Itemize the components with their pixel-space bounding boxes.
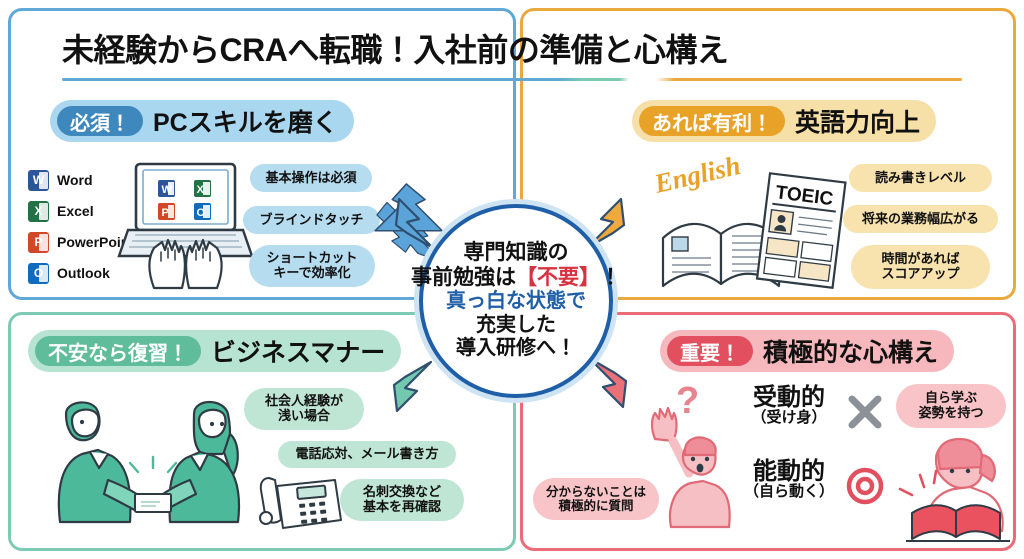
pill-pc-shortcuts: ショートカット キーで効率化 — [249, 245, 375, 287]
section-title-mindset: 積極的な心構え — [763, 333, 938, 369]
section-header-business-manner: 不安なら復習！ ビジネスマナー — [28, 330, 401, 372]
pill-manner-card-exchange: 名刺交換など 基本を再確認 — [340, 479, 464, 521]
svg-text:X: X — [197, 184, 205, 196]
pill-pc-touch-typing: ブラインドタッチ — [243, 206, 380, 234]
section-chip-business-manner: 不安なら復習！ — [35, 336, 201, 366]
page-title: 未経験からCRAへ転職！入社前の準備と心構え — [62, 28, 782, 72]
section-title-english: 英語力向上 — [795, 103, 920, 139]
pill-manner-phone-email: 電話応対、メール書き方 — [278, 441, 456, 468]
pill-en-score-up: 時間があれば スコアアップ — [851, 245, 990, 289]
section-chip-mindset: 重要！ — [667, 336, 753, 366]
center-line-2c: ！ — [600, 266, 621, 289]
reading-person-illustration — [900, 425, 1015, 545]
english-word-label: English — [651, 150, 744, 199]
office-app-label: Excel — [57, 203, 94, 219]
pill-en-reading-writing: 読み書きレベル — [849, 164, 992, 192]
business-card-exchange-illustration — [42, 390, 262, 530]
center-line-5: 導入研修へ！ — [456, 337, 576, 361]
section-header-english: あれば有利！ 英語力向上 — [632, 100, 936, 142]
center-line-2: 事前勉強は【不要】！ — [411, 266, 621, 290]
active-label-group: 能動的 （自ら動く） — [734, 459, 844, 500]
pill-mindset-self-learning: 自ら学ぶ 姿勢を持つ — [896, 384, 1006, 428]
title-underline — [62, 78, 962, 81]
svg-text:O: O — [197, 207, 206, 219]
center-message-circle: 専門知識の 事前勉強は【不要】！ 真っ白な状態で 充実した 導入研修へ！ — [419, 204, 613, 398]
center-line-3: 真っ白な状態で — [446, 290, 586, 314]
section-header-pc-skills: 必須！ PCスキルを磨く — [50, 100, 354, 142]
center-line-2a: 事前勉強は — [411, 266, 516, 289]
outlook-icon: O — [28, 263, 49, 284]
active-sub-label: （自ら動く） — [734, 484, 844, 500]
section-header-mindset: 重要！ 積極的な心構え — [660, 330, 954, 372]
passive-sub-label: （受け身） — [734, 410, 844, 426]
word-icon: W — [28, 170, 49, 191]
infographic-canvas: 未経験からCRAへ転職！入社前の準備と心構え 必須！ PCスキルを磨く あれば有… — [0, 0, 1024, 559]
passive-label-group: 受動的 （受け身） — [734, 385, 844, 426]
office-app-label: Word — [57, 172, 93, 188]
excel-icon: X — [28, 201, 49, 222]
center-line-2-highlight: 【不要】 — [516, 266, 600, 289]
double-circle-icon — [845, 466, 885, 506]
center-line-1: 専門知識の — [464, 241, 569, 265]
pill-pc-basic-ops: 基本操作は必須 — [250, 164, 372, 192]
svg-text:P: P — [162, 207, 169, 219]
powerpoint-icon: P — [28, 232, 49, 253]
passive-main-label: 受動的 — [734, 385, 844, 410]
desk-phone-illustration — [257, 470, 343, 532]
svg-text:W: W — [162, 184, 173, 196]
question-mark-icon: ? — [676, 380, 699, 423]
section-chip-pc-skills: 必須！ — [57, 106, 143, 136]
section-title-business-manner: ビジネスマナー — [211, 333, 385, 369]
x-mark-icon — [845, 392, 885, 432]
center-line-4: 充実した — [476, 314, 556, 338]
center-hub: 専門知識の 事前勉強は【不要】！ 真っ白な状態で 充実した 導入研修へ！ — [383, 186, 641, 411]
english-book-toeic-illustration: English TOEIC — [655, 158, 845, 293]
section-chip-english: あれば有利！ — [639, 106, 785, 136]
section-title-pc-skills: PCスキルを磨く — [153, 103, 338, 139]
pill-manner-little-experience: 社会人経験が 浅い場合 — [244, 388, 364, 430]
laptop-typing-illustration: W X P O — [118, 160, 253, 295]
active-main-label: 能動的 — [734, 459, 844, 484]
pill-en-future-scope: 将来の業務幅広がる — [843, 205, 998, 233]
pill-mindset-ask-questions: 分からないことは 積極的に質問 — [533, 478, 659, 520]
office-app-label: Outlook — [57, 265, 110, 281]
